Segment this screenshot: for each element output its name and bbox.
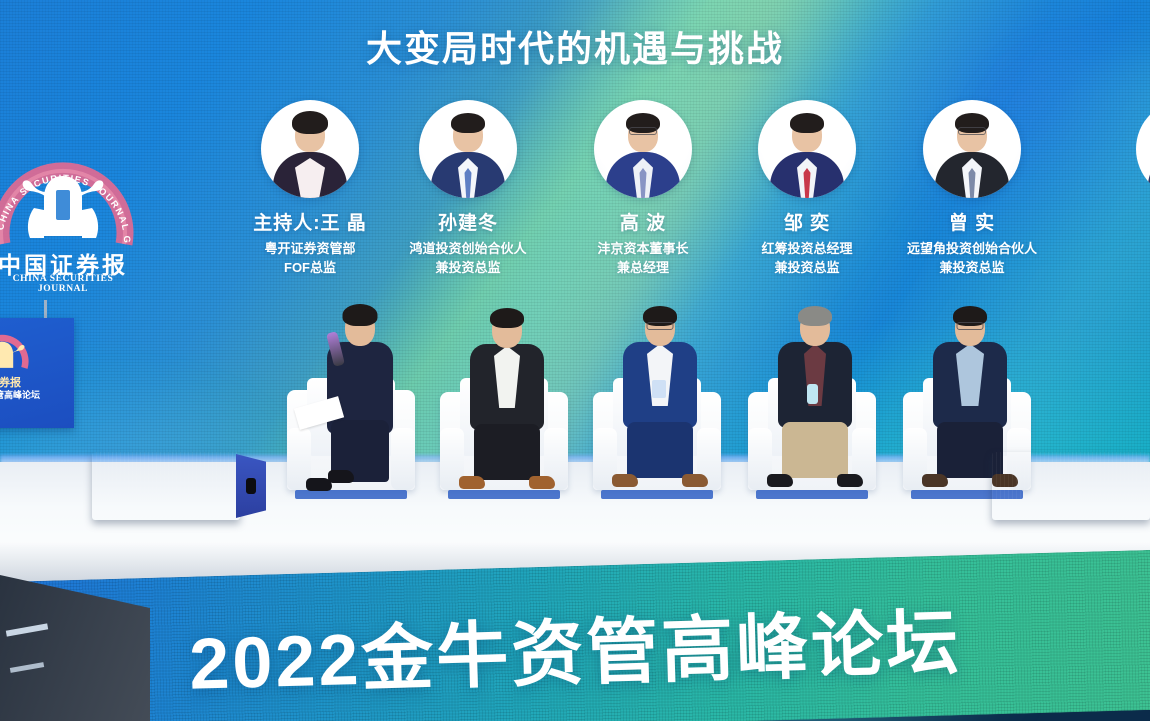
panelist-2 xyxy=(447,312,567,492)
conference-stage-photo: 大变局时代的机遇与挑战 CHINA SECURITIES JOURNAL GOL… xyxy=(0,0,1150,721)
portrait-wang-jing xyxy=(261,100,359,198)
speaker-role-line2: 兼投资总监 xyxy=(712,259,902,277)
speaker-role-line2: 兼总经理 xyxy=(548,259,738,277)
stage-monitor-right xyxy=(992,452,1150,520)
speaker-role-line2: 兼投资总监 xyxy=(877,259,1067,277)
podium-sub-text: 金牛资管高峰论坛 xyxy=(0,388,54,401)
golden-bull-icon-small xyxy=(0,326,30,380)
portrait-sun-jiandong xyxy=(419,100,517,198)
wedge-speaker-icon xyxy=(992,452,1150,520)
speaker-name: 孙建冬 xyxy=(373,208,563,235)
speaker-name: 曾 实 xyxy=(877,208,1067,235)
speaker-name: 高 波 xyxy=(548,208,738,235)
panelist-3 xyxy=(600,310,720,490)
speaker-card-4: 邹 奕 红筹投资总经理 兼投资总监 xyxy=(712,100,902,276)
speaker-role-line1: 远望角投资创始合伙人 xyxy=(877,240,1067,258)
chair-legs xyxy=(295,490,407,499)
wedge-speaker-port xyxy=(246,478,256,494)
stage-monitor-left xyxy=(92,452,240,520)
speaker-role-line1: 红筹投资总经理 xyxy=(712,240,902,258)
glasses-icon xyxy=(957,322,984,330)
speaker-card-3: 高 波 沣京资本董事长 兼总经理 xyxy=(548,100,738,276)
speaker-lineup: 主持人:王 晶 粤开证券资管部 FOF总监 孙建冬 鸿道投资创始合伙人 兼投资总… xyxy=(0,100,1150,300)
speaker-role-line1: 鸿道投资创始合伙人 xyxy=(373,240,563,258)
chair-legs xyxy=(756,490,868,499)
speaker-name: 邹 奕 xyxy=(712,208,902,235)
speaker-role-line2: 兼投资总监 xyxy=(373,259,563,277)
portrait-gao-bo xyxy=(594,100,692,198)
panelist-4 xyxy=(755,310,875,490)
speaker-card-5: 曾 实 远望角投资创始合伙人 兼投资总监 xyxy=(877,100,1067,276)
speaker-role-line1: 沣京资本董事长 xyxy=(548,240,738,258)
glasses-icon xyxy=(629,127,657,135)
portrait-zeng-shi xyxy=(923,100,1021,198)
water-bottle-icon xyxy=(807,384,818,404)
glasses-icon xyxy=(647,322,674,330)
speaker-card-2: 孙建冬 鸿道投资创始合伙人 兼投资总监 xyxy=(373,100,563,276)
structure-highlight-1 xyxy=(6,623,48,636)
chair-legs xyxy=(601,490,713,499)
page-title: 大变局时代的机遇与挑战 xyxy=(0,20,1150,72)
panelist-moderator xyxy=(300,310,420,490)
wedge-speaker-icon xyxy=(92,452,240,520)
podium-sign: 中国证券报 金牛资管高峰论坛 xyxy=(0,318,74,428)
portrait-zou-yi xyxy=(758,100,856,198)
badge-lanyard xyxy=(652,380,666,398)
structure-highlight-2 xyxy=(10,662,44,673)
glasses-icon xyxy=(958,127,986,135)
